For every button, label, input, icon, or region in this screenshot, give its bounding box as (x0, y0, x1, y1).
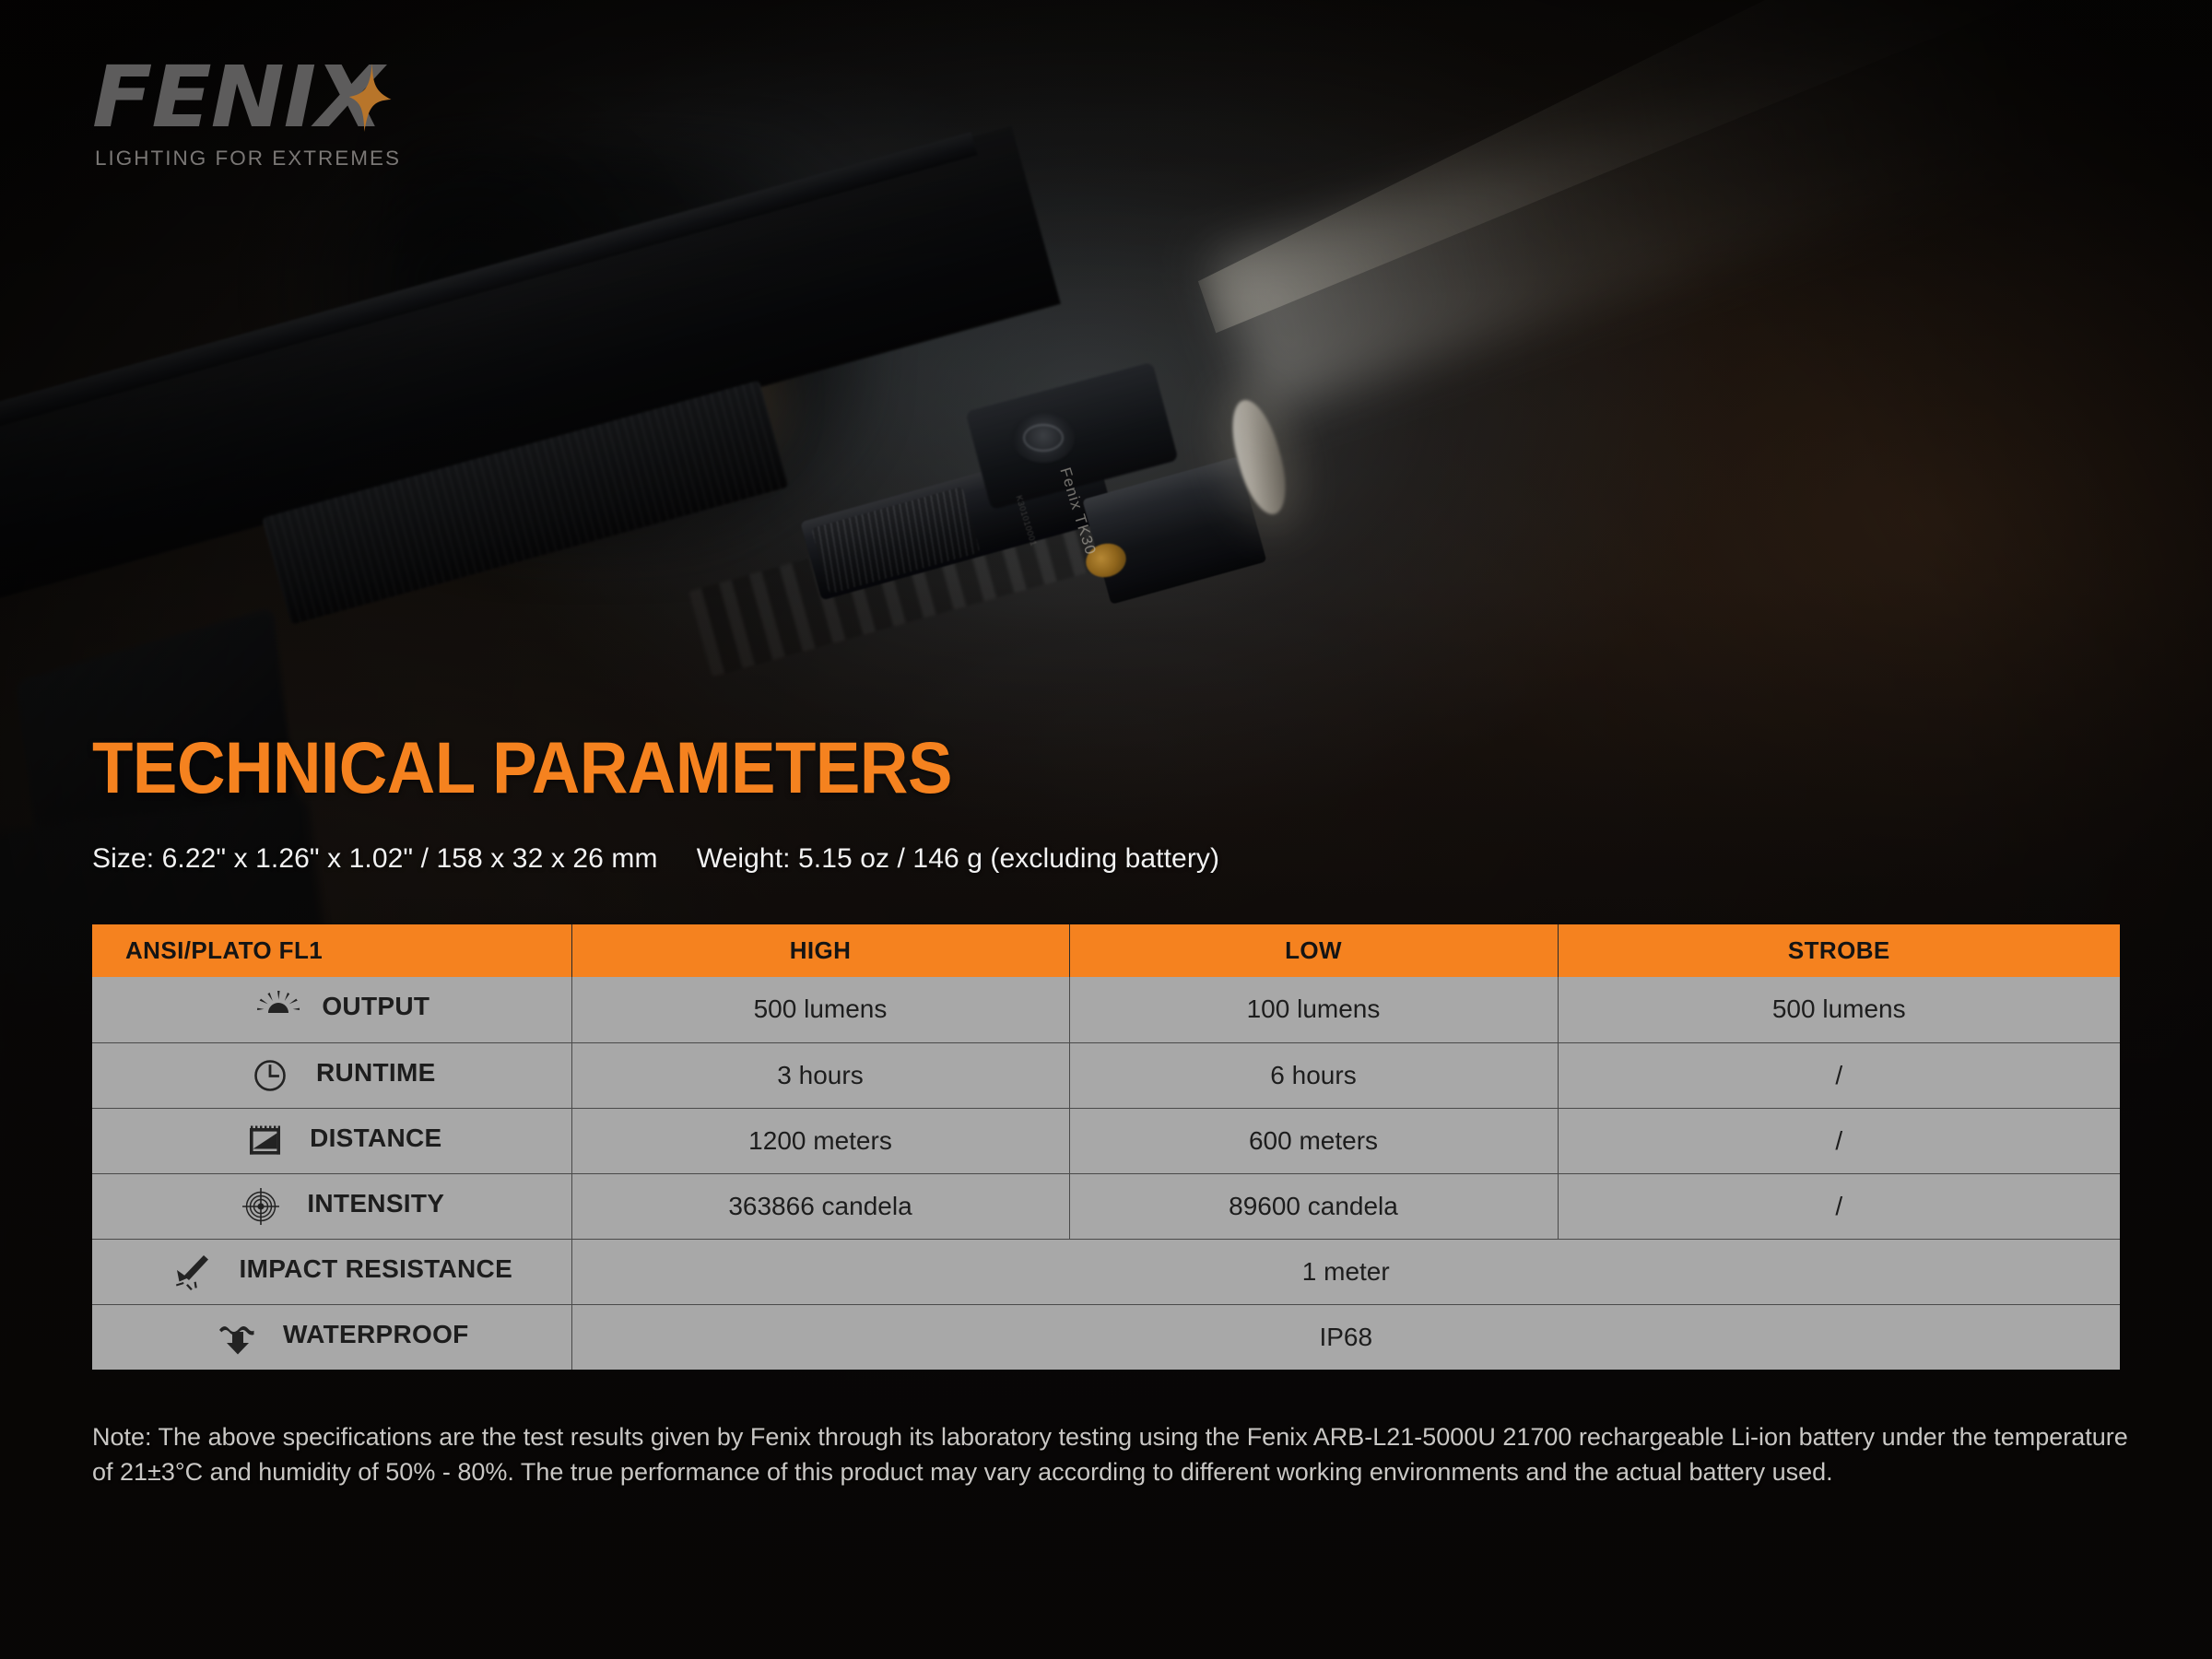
row-label-text: OUTPUT (322, 992, 429, 1021)
table-row: WATERPROOF IP68 (92, 1304, 2120, 1370)
cell-runtime-low: 6 hours (1069, 1042, 1558, 1108)
table-row: RUNTIME 3 hours 6 hours / (92, 1042, 2120, 1108)
cell-output-strobe: 500 lumens (1558, 977, 2120, 1042)
brand-logo: FENIX LIGHTING FOR EXTREMES (92, 55, 525, 171)
col-header-high: HIGH (571, 924, 1069, 977)
brand-wordmark: FENIX (92, 55, 543, 140)
row-label-runtime: RUNTIME (92, 1042, 571, 1108)
row-label-impact-resistance: IMPACT RESISTANCE (92, 1239, 571, 1304)
cell-output-high: 500 lumens (571, 977, 1069, 1042)
cell-intensity-high: 363866 candela (571, 1173, 1069, 1239)
target-icon (242, 1188, 285, 1225)
water-submerge-icon (218, 1319, 261, 1356)
col-header-strobe: STROBE (1558, 924, 2120, 977)
size-weight-line: Size: 6.22" x 1.26" x 1.02" / 158 x 32 x… (92, 843, 1219, 875)
cell-waterproof-value: IP68 (571, 1304, 2120, 1370)
impact-arrow-icon (174, 1253, 217, 1290)
col-header-low: LOW (1069, 924, 1558, 977)
cell-runtime-high: 3 hours (571, 1042, 1069, 1108)
row-label-intensity: INTENSITY (92, 1173, 571, 1239)
row-label-output: OUTPUT (92, 977, 571, 1042)
row-label-text: IMPACT RESISTANCE (240, 1254, 513, 1284)
cell-distance-high: 1200 meters (571, 1108, 1069, 1173)
cell-distance-low: 600 meters (1069, 1108, 1558, 1173)
row-label-text: INTENSITY (307, 1189, 444, 1218)
cell-distance-strobe: / (1558, 1108, 2120, 1173)
cell-impact-resistance-value: 1 meter (571, 1239, 2120, 1304)
tape-measure-icon (245, 1123, 288, 1159)
table-header-row: ANSI/PLATO FL1 HIGH LOW STROBE (92, 924, 2120, 977)
sunburst-icon (257, 991, 300, 1028)
table-row: IMPACT RESISTANCE 1 meter (92, 1239, 2120, 1304)
table-row: OUTPUT 500 lumens 100 lumens 500 lumens (92, 977, 2120, 1042)
clock-icon (252, 1057, 294, 1094)
cell-runtime-strobe: / (1558, 1042, 2120, 1108)
background-photo: Fenix TK30 K301010001 (0, 0, 2212, 1659)
row-label-waterproof: WATERPROOF (92, 1304, 571, 1370)
spec-table-container: ANSI/PLATO FL1 HIGH LOW STROBE (92, 924, 2120, 1370)
cell-intensity-low: 89600 candela (1069, 1173, 1558, 1239)
page-title: TECHNICAL PARAMETERS (92, 731, 952, 804)
table-row: DISTANCE 1200 meters 600 meters / (92, 1108, 2120, 1173)
row-label-text: DISTANCE (310, 1124, 441, 1153)
col-header-standard: ANSI/PLATO FL1 (92, 924, 571, 977)
brand-name-text: FENIX (92, 48, 382, 147)
spec-table: ANSI/PLATO FL1 HIGH LOW STROBE (92, 924, 2120, 1370)
darkening-scrim (0, 0, 2212, 1659)
cell-intensity-strobe: / (1558, 1173, 2120, 1239)
star-spark-icon (349, 61, 392, 129)
cell-output-low: 100 lumens (1069, 977, 1558, 1042)
row-label-distance: DISTANCE (92, 1108, 571, 1173)
row-label-text: WATERPROOF (283, 1320, 469, 1349)
footnote: Note: The above specifications are the t… (92, 1419, 2138, 1489)
row-label-text: RUNTIME (316, 1058, 436, 1088)
table-row: INTENSITY 363866 candela 89600 candela / (92, 1173, 2120, 1239)
brand-tagline: LIGHTING FOR EXTREMES (95, 147, 525, 171)
